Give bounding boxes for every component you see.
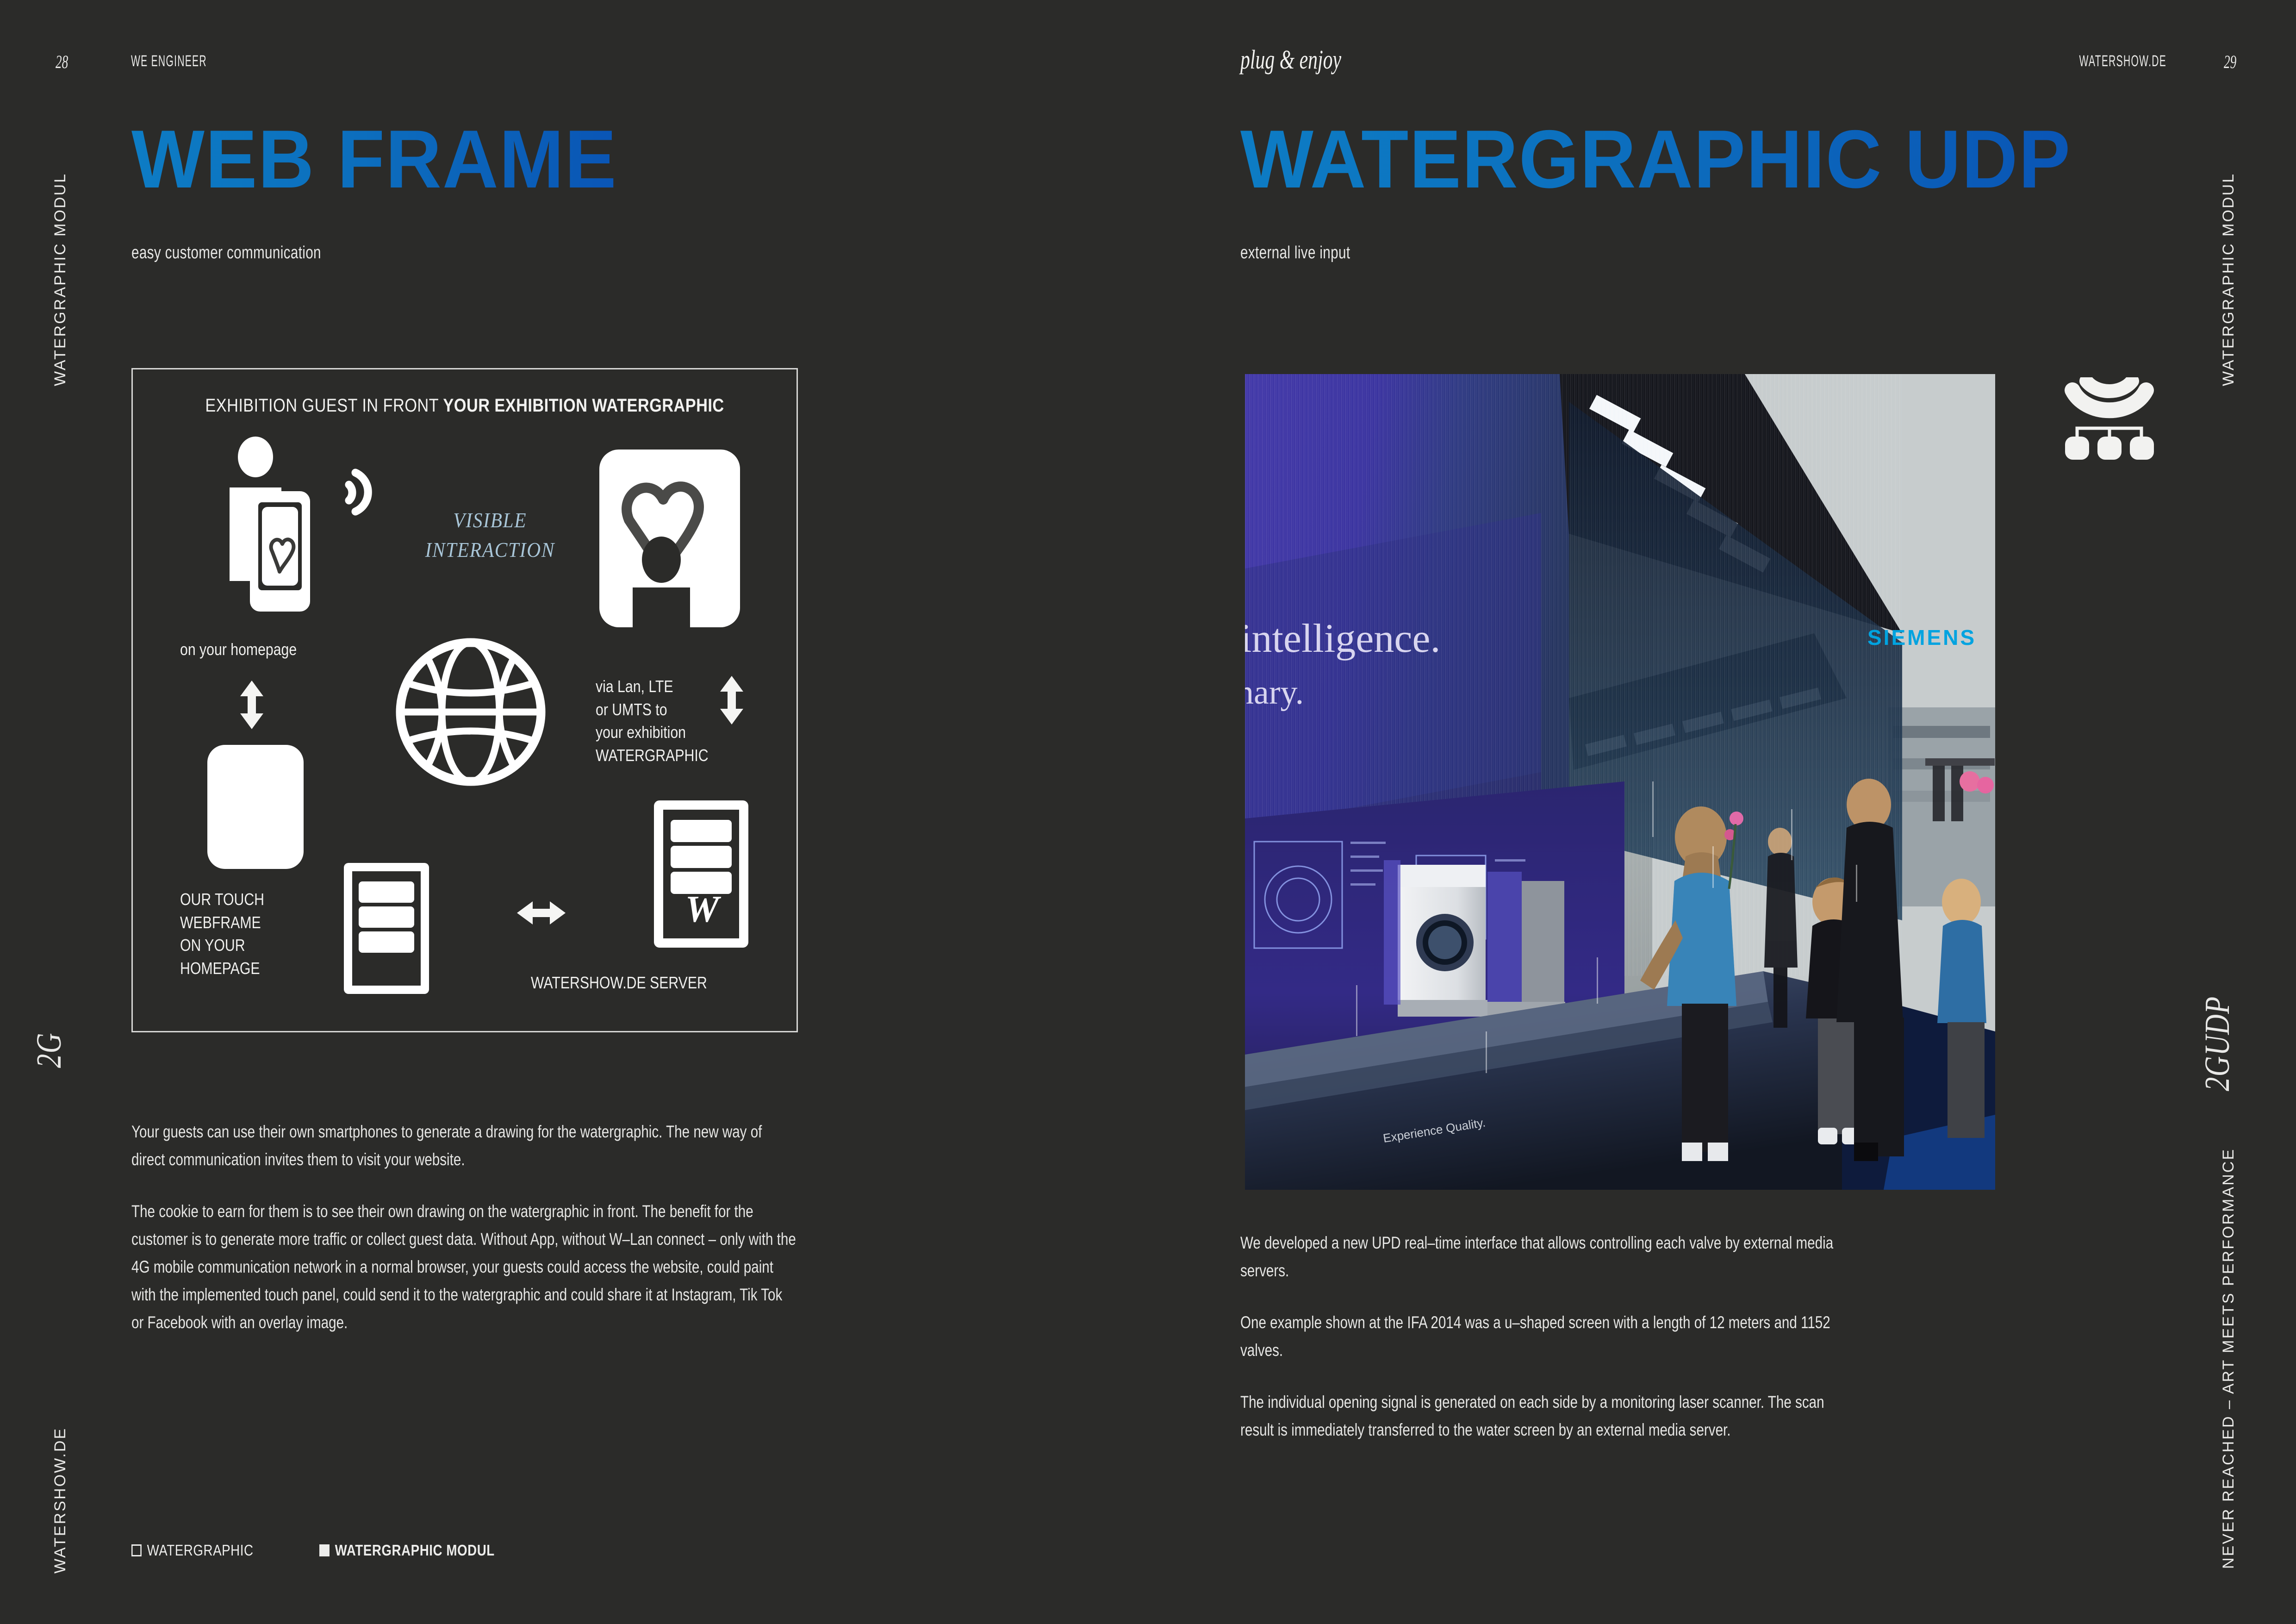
- paragraph: The individual opening signal is generat…: [1240, 1388, 1851, 1444]
- screen-text-nary: nary.: [1245, 674, 1304, 712]
- sidebar-label-2g: 2G: [29, 1032, 69, 1068]
- label-on-your-homepage: on your homepage: [180, 638, 297, 661]
- sidebar-label-never-reached: NEVER REACHED – ART MEETS PERFORMANCE: [2220, 1148, 2238, 1569]
- diagram-heading: EXHIBITION GUEST IN FRONT YOUR EXHIBITIO…: [179, 395, 750, 416]
- label-our-touch-webframe: OUR TOUCH WEBFRAME ON YOUR HOMEPAGE: [180, 888, 264, 980]
- page-number-right: 29: [2224, 51, 2236, 73]
- siemens-logo-text: SIEMENS: [1867, 625, 1976, 650]
- sidebar-label-watergraphic-modul-right: WATERGRAPHIC MODUL: [2220, 173, 2238, 386]
- diagram-heading-normal: EXHIBITION GUEST IN FRONT: [205, 395, 443, 416]
- page-title-right: WATERGRAPHIC UDP: [1240, 118, 2071, 200]
- server-logo-glyph: W: [685, 888, 722, 930]
- paragraph: One example shown at the IFA 2014 was a …: [1240, 1309, 1851, 1364]
- footer-tag-watergraphic[interactable]: WATERGRAPHIC: [131, 1542, 254, 1559]
- running-head-right: WATERSHOW.DE: [2079, 52, 2166, 70]
- swash-plug-and-enjoy: plug & enjoy: [1240, 44, 1341, 75]
- brochure-spread: 28 WE ENGINEER WEB FRAME easy customer c…: [0, 0, 2296, 1624]
- server-rack-icon: W: [651, 798, 751, 950]
- page-subtitle-right: external live input: [1240, 243, 1350, 263]
- up-down-arrow-icon-left: [238, 681, 265, 729]
- marker-outline-square: [131, 1544, 142, 1556]
- footer-tag-label: WATERGRAPHIC MODUL: [335, 1542, 495, 1559]
- running-head-left: WE ENGINEER: [131, 52, 207, 70]
- up-down-arrow-icon-right: [718, 676, 745, 725]
- body-copy-right: We developed a new UPD real–time interfa…: [1240, 1229, 1851, 1444]
- left-right-arrow-icon: [517, 899, 566, 926]
- sidebar-label-watergraphic-modul-left: WATERGRAPHIC MODUL: [51, 173, 69, 386]
- person-with-smartphone-icon: [223, 437, 339, 617]
- webframe-flow-diagram: EXHIBITION GUEST IN FRONT YOUR EXHIBITIO…: [131, 368, 798, 1032]
- paragraph: We developed a new UPD real–time interfa…: [1240, 1229, 1851, 1285]
- visible-interaction-label: VISIBLE INTERACTION: [420, 506, 560, 565]
- page-number-left: 28: [56, 51, 68, 73]
- paragraph: The cookie to earn for them is to see th…: [131, 1198, 798, 1337]
- diagram-heading-bold: YOUR EXHIBITION WATERGRAPHIC: [443, 395, 724, 416]
- body-copy-left: Your guests can use their own smartphone…: [131, 1118, 798, 1337]
- webframe-panel-icon: [341, 860, 432, 997]
- screen-text-intelligence: intelligence.: [1245, 616, 1440, 661]
- tablet-blank-icon: [205, 742, 306, 872]
- network-distribution-icon: [2060, 377, 2159, 465]
- watergraphic-screen-icon: [596, 446, 744, 631]
- label-via-lan-lte: via Lan, LTE or UMTS to your exhibition …: [596, 675, 709, 767]
- sidebar-label-2gudp: 2GUDP: [2197, 996, 2238, 1091]
- page-subtitle-left: easy customer communication: [131, 243, 321, 263]
- footer-tag-watergraphic-modul[interactable]: WATERGRAPHIC MODUL: [319, 1542, 495, 1559]
- paragraph: Your guests can use their own smartphone…: [131, 1118, 798, 1174]
- wifi-signal-icon: [343, 464, 394, 520]
- globe-icon: [390, 638, 552, 786]
- label-watershow-server: WATERSHOW.DE SERVER: [531, 971, 707, 994]
- footer-tag-label: WATERGRAPHIC: [147, 1542, 254, 1559]
- watergraphic-booth-photo: Experience Quality. SIEMENS intelligence…: [1245, 374, 1995, 1190]
- sidebar-label-watershow-de: WATERSHOW.DE: [51, 1427, 69, 1574]
- page-title-left: WEB FRAME: [131, 118, 617, 200]
- marker-filled-square: [319, 1544, 330, 1556]
